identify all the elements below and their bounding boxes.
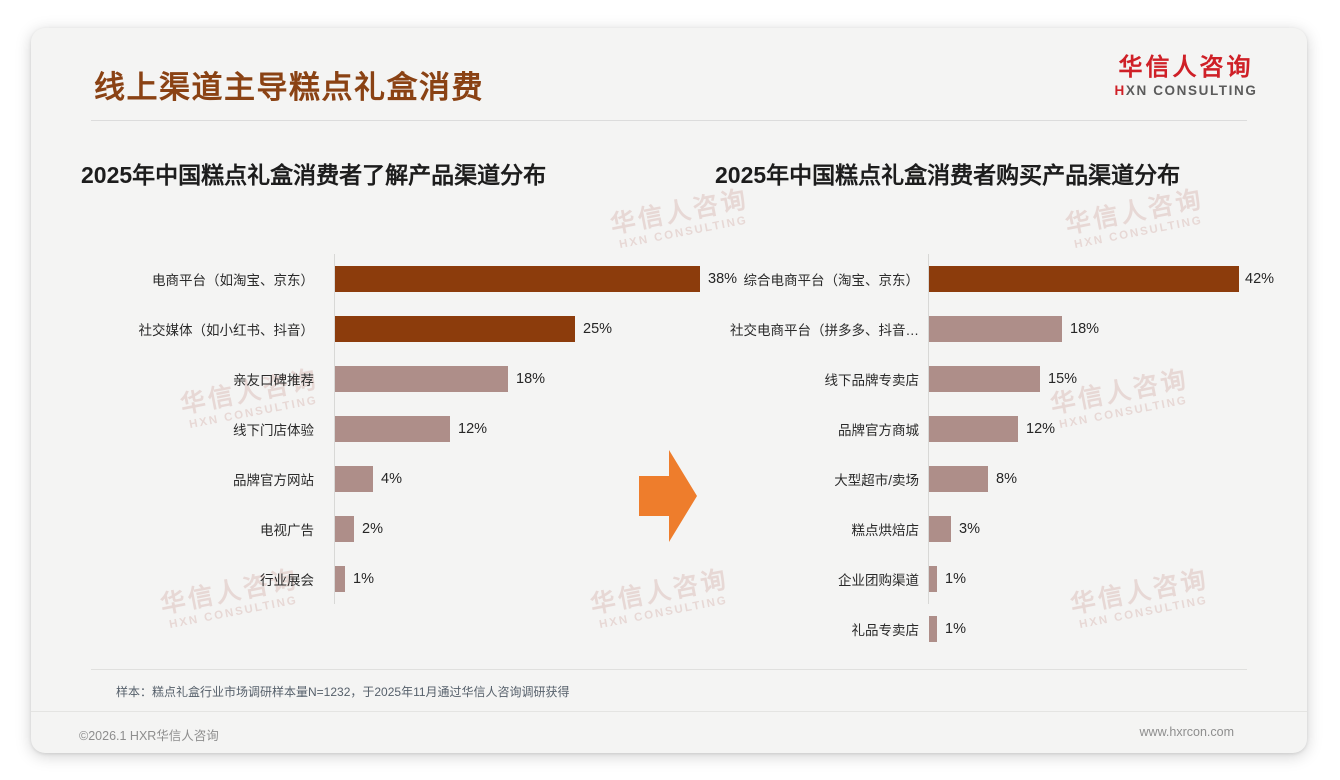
logo-en-prefix: H <box>1115 83 1126 98</box>
watermark: 华信人咨询 HXN CONSULTING <box>1064 187 1209 252</box>
bar-row: 品牌官方网站 4% <box>51 454 691 504</box>
copyright-text: ©2026.1 HXR华信人咨询 <box>79 725 219 744</box>
bar-category-label: 电视广告 <box>51 519 314 539</box>
watermark-en: HXN CONSULTING <box>1069 214 1209 252</box>
website-text: www.hxrcon.com <box>1140 725 1234 739</box>
flow-arrow-icon <box>639 450 697 542</box>
bar-segment <box>335 516 354 542</box>
logo-chinese-text: 华信人咨询 <box>1102 55 1270 80</box>
bar-row: 品牌官方商城 12% <box>681 404 1301 454</box>
slide-footer: ©2026.1 HXR华信人咨询 www.hxrcon.com <box>31 711 1307 753</box>
company-logo: 华信人咨询 HXN CONSULTING <box>1102 55 1270 98</box>
logo-english-text: HXN CONSULTING <box>1102 83 1270 98</box>
bar-category-label: 线下门店体验 <box>51 419 314 439</box>
watermark-cn: 华信人咨询 <box>609 187 751 238</box>
bar-row: 社交媒体（如小红书、抖音） 25% <box>51 304 691 354</box>
bar-category-label: 品牌官方商城 <box>681 419 919 439</box>
bar-category-label: 线下品牌专卖店 <box>681 369 919 389</box>
footnote-divider <box>91 669 1247 670</box>
bar-value-label: 25% <box>583 321 612 337</box>
bar-category-label: 品牌官方网站 <box>51 469 314 489</box>
bar-value-label: 15% <box>1048 371 1077 387</box>
bar-value-label: 1% <box>353 571 374 587</box>
watermark-cn: 华信人咨询 <box>1064 187 1206 238</box>
bar-row: 糕点烘焙店 3% <box>681 504 1301 554</box>
bar-row: 电商平台（如淘宝、京东） 38% <box>51 254 691 304</box>
page-title: 线上渠道主导糕点礼盒消费 <box>94 62 484 107</box>
bar-value-label: 4% <box>381 471 402 487</box>
bar-category-label: 糕点烘焙店 <box>681 519 919 539</box>
bar-value-label: 8% <box>996 471 1017 487</box>
bar-value-label: 12% <box>458 421 487 437</box>
bar-segment <box>335 316 575 342</box>
bar-row: 礼品专卖店 1% <box>681 604 1301 654</box>
bar-segment <box>929 516 951 542</box>
chart-title-right: 2025年中国糕点礼盒消费者购买产品渠道分布 <box>715 156 1180 190</box>
bar-value-label: 18% <box>1070 321 1099 337</box>
bar-row: 电视广告 2% <box>51 504 691 554</box>
watermark-en: HXN CONSULTING <box>614 214 754 252</box>
chart-title-left: 2025年中国糕点礼盒消费者了解产品渠道分布 <box>81 156 546 190</box>
slide-header: 线上渠道主导糕点礼盒消费 华信人咨询 HXN CONSULTING <box>31 28 1307 121</box>
bar-row: 行业展会 1% <box>51 554 691 604</box>
bar-row: 大型超市/卖场 8% <box>681 454 1301 504</box>
bar-segment <box>929 616 937 642</box>
bar-category-label: 大型超市/卖场 <box>681 469 919 489</box>
bar-segment <box>929 366 1040 392</box>
bar-row: 综合电商平台（淘宝、京东） 42% <box>681 254 1301 304</box>
bar-row: 线下品牌专卖店 15% <box>681 354 1301 404</box>
bar-segment <box>929 316 1062 342</box>
header-divider <box>91 120 1247 121</box>
bar-category-label: 综合电商平台（淘宝、京东） <box>681 269 919 289</box>
bar-row: 亲友口碑推荐 18% <box>51 354 691 404</box>
bar-segment <box>335 416 450 442</box>
bar-segment <box>335 566 345 592</box>
bar-row: 线下门店体验 12% <box>51 404 691 454</box>
bar-category-label: 社交媒体（如小红书、抖音） <box>51 319 314 339</box>
bar-value-label: 2% <box>362 521 383 537</box>
bar-segment <box>335 366 508 392</box>
bar-category-label: 社交电商平台（拼多多、抖音… <box>681 319 919 339</box>
bar-value-label: 3% <box>959 521 980 537</box>
bar-category-label: 电商平台（如淘宝、京东） <box>51 269 314 289</box>
bar-row: 企业团购渠道 1% <box>681 554 1301 604</box>
bar-value-label: 18% <box>516 371 545 387</box>
bar-value-label: 1% <box>945 621 966 637</box>
bar-segment <box>335 466 373 492</box>
bar-value-label: 42% <box>1245 271 1274 287</box>
bar-category-label: 亲友口碑推荐 <box>51 369 314 389</box>
footnote-text: 样本：糕点礼盒行业市场调研样本量N=1232，于2025年11月通过华信人咨询调… <box>116 683 570 700</box>
bar-category-label: 行业展会 <box>51 569 314 589</box>
bar-segment <box>929 466 988 492</box>
bar-segment <box>929 266 1239 292</box>
bar-segment <box>335 266 700 292</box>
watermark: 华信人咨询 HXN CONSULTING <box>609 187 754 252</box>
bar-segment <box>929 416 1018 442</box>
bar-row: 社交电商平台（拼多多、抖音… 18% <box>681 304 1301 354</box>
logo-en-rest: XN CONSULTING <box>1126 83 1258 98</box>
bar-category-label: 礼品专卖店 <box>681 619 919 639</box>
slide-card: 华信人咨询 HXN CONSULTING 华信人咨询 HXN CONSULTIN… <box>31 28 1307 753</box>
bar-category-label: 企业团购渠道 <box>681 569 919 589</box>
bar-segment <box>929 566 937 592</box>
bar-chart-left: 电商平台（如淘宝、京东） 38% 社交媒体（如小红书、抖音） 25% 亲友口碑推… <box>51 254 691 604</box>
bar-value-label: 1% <box>945 571 966 587</box>
bar-chart-right: 综合电商平台（淘宝、京东） 42% 社交电商平台（拼多多、抖音… 18% 线下品… <box>681 254 1301 654</box>
bar-value-label: 12% <box>1026 421 1055 437</box>
